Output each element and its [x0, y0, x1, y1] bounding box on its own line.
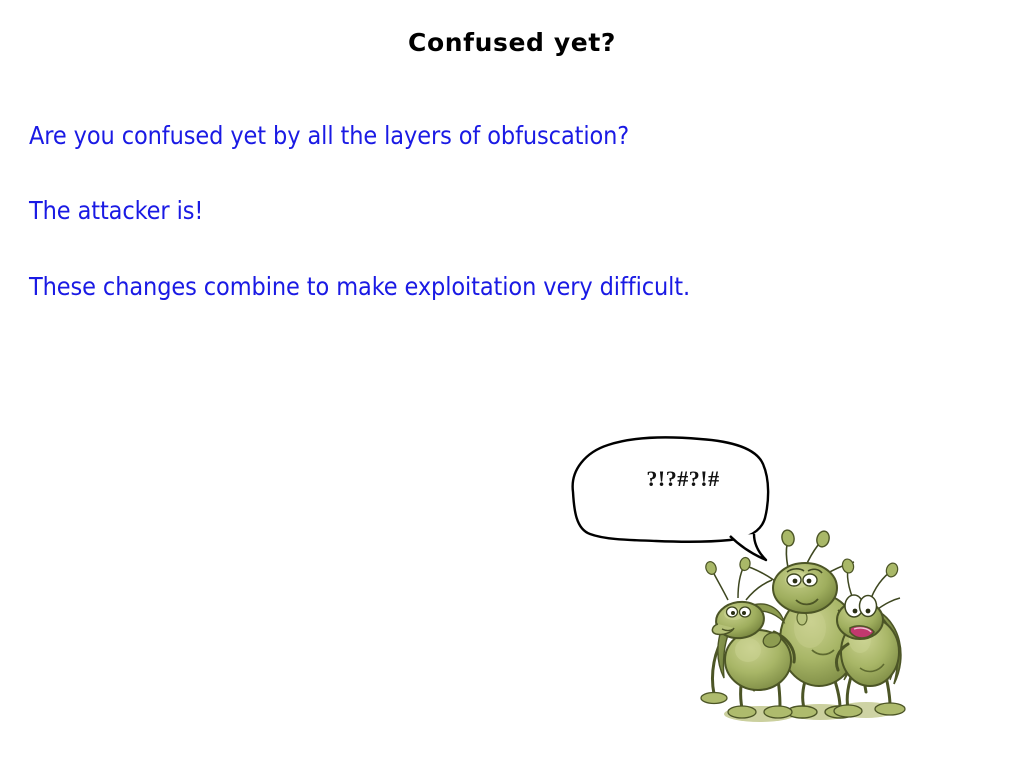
body-line-1: Are you confused yet by all the layers o…: [29, 121, 959, 151]
slide-body: Are you confused yet by all the layers o…: [29, 121, 959, 302]
page-title: Confused yet?: [0, 28, 1024, 57]
bug-right: [834, 558, 905, 717]
slide-canvas: Confused yet? Are you confused yet by al…: [0, 0, 1024, 768]
speech-bubble-text: ?!?#?!#: [618, 466, 748, 492]
cartoon-illustration: ?!?#?!#: [560, 430, 930, 740]
body-line-2: The attacker is!: [29, 196, 959, 226]
bug-characters-illustration: [688, 528, 918, 733]
body-line-3: These changes combine to make exploitati…: [29, 272, 959, 302]
